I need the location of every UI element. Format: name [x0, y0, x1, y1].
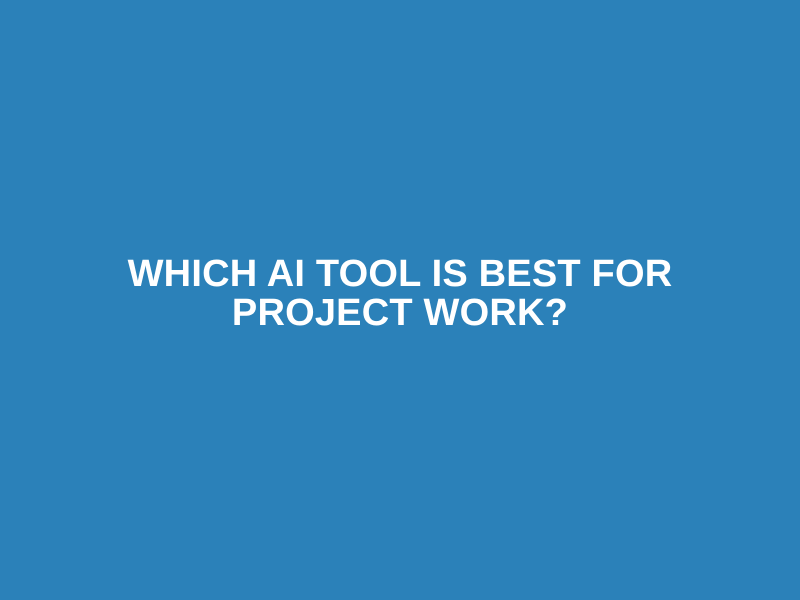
headline-block: Which AI Tool Is Best For Project Work? — [80, 255, 720, 333]
page-title: Which AI Tool Is Best For Project Work? — [88, 255, 712, 333]
title-card-banner: Which AI Tool Is Best For Project Work? — [0, 0, 800, 600]
